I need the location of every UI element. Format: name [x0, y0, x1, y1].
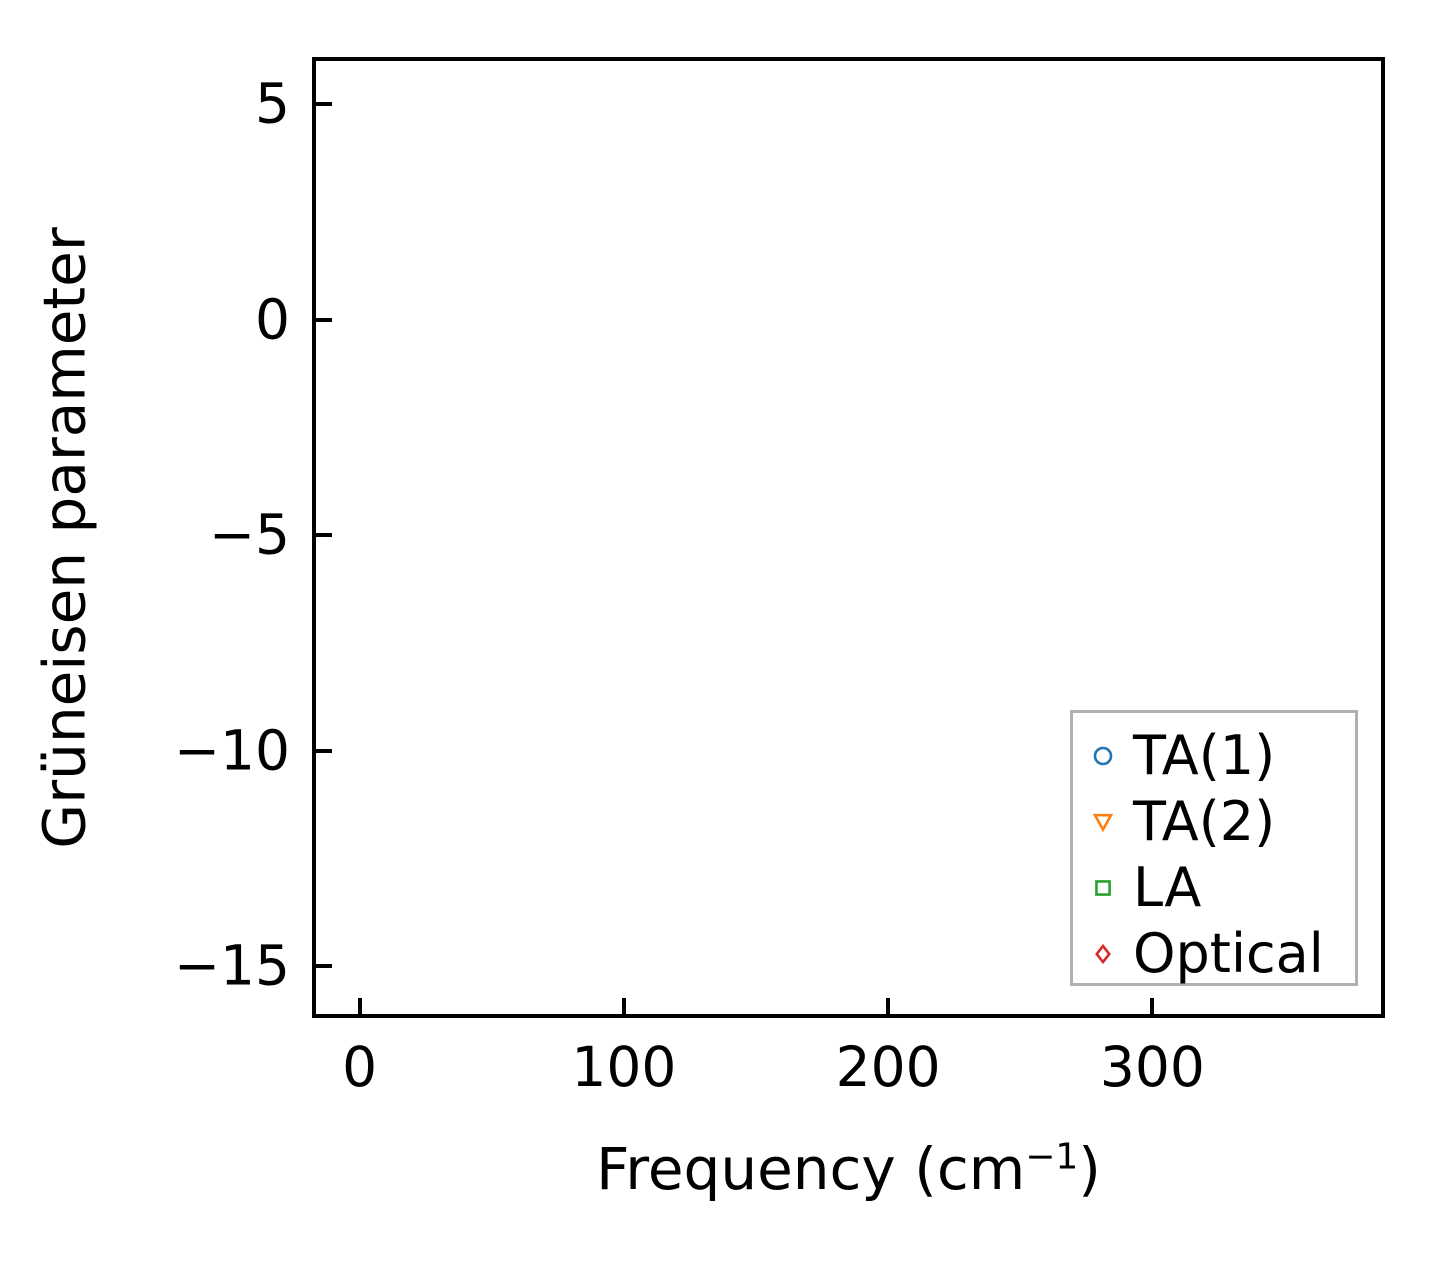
y-axis-tick [312, 749, 332, 753]
x-axis-tick [1150, 998, 1154, 1018]
x-axis-tick-label: 0 [342, 1040, 377, 1095]
y-axis-label: Grüneisen parameter [36, 58, 126, 1019]
x-axis-tick [358, 998, 362, 1018]
scatter-plot-figure: 010020030050−5−10−15 Frequency (cm−1) Gr… [0, 0, 1443, 1264]
y-axis-tick [312, 964, 332, 968]
x-axis-tick [886, 998, 890, 1018]
y-axis-tick [312, 533, 332, 537]
square-icon [1073, 875, 1133, 901]
y-axis-tick [312, 318, 332, 322]
x-axis-label: Frequency (cm−1) [312, 1140, 1385, 1198]
legend-label: Optical [1133, 927, 1324, 981]
x-axis-tick-label: 100 [571, 1040, 676, 1095]
diamond-icon [1073, 941, 1133, 967]
legend-entry-ta2[interactable]: TA(2) [1073, 787, 1355, 856]
x-axis-tick-label: 200 [836, 1040, 941, 1095]
legend-label: LA [1133, 861, 1201, 915]
x-axis-tick [622, 998, 626, 1018]
x-axis-label-exponent: −1 [1025, 1137, 1078, 1178]
circle-icon [1073, 743, 1133, 769]
x-axis-label-base: Frequency (cm [596, 1135, 1025, 1203]
triangle-down-icon [1073, 809, 1133, 835]
legend-label: TA(1) [1133, 729, 1275, 783]
legend-entry-optical[interactable]: Optical [1073, 919, 1355, 988]
x-axis-tick-label: 300 [1100, 1040, 1205, 1095]
legend-entry-la[interactable]: LA [1073, 853, 1355, 922]
legend-box: TA(1)TA(2)LAOptical [1070, 710, 1358, 986]
x-axis-label-tail: ) [1078, 1135, 1101, 1203]
y-axis-tick [312, 102, 332, 106]
legend-label: TA(2) [1133, 795, 1275, 849]
legend-entry-ta1[interactable]: TA(1) [1073, 721, 1355, 790]
